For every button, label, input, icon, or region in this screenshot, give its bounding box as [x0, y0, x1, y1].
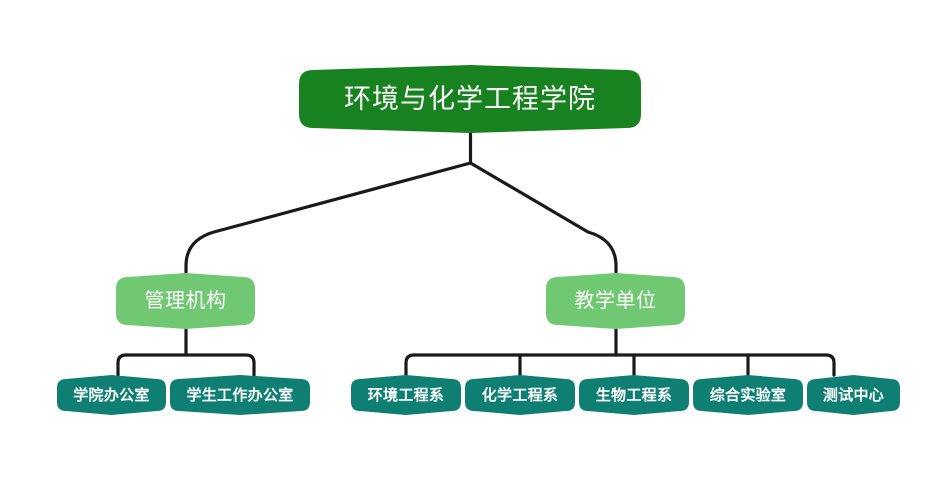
org-chart-canvas: 环境与化学工程学院 管理机构 教学单位 学院办公室 学生工作办公室 环境工程系: [0, 0, 941, 482]
connector-root-to-管理机构: [186, 163, 471, 272]
node-leaf-测试中心-label: 测试中心: [823, 388, 884, 403]
node-leaf-综合实验室-label: 综合实验室: [710, 388, 787, 403]
node-leaf-学生工作办公室[interactable]: 学生工作办公室: [170, 375, 310, 415]
node-root[interactable]: 环境与化学工程学院: [299, 64, 641, 134]
node-leaf-测试中心[interactable]: 测试中心: [807, 375, 900, 415]
node-root-label: 环境与化学工程学院: [344, 86, 596, 113]
node-branch-管理机构[interactable]: 管理机构: [116, 272, 255, 330]
node-branch-教学单位[interactable]: 教学单位: [546, 272, 685, 330]
node-leaf-环境工程系-label: 环境工程系: [368, 388, 445, 403]
node-leaf-化学工程系[interactable]: 化学工程系: [465, 375, 575, 415]
connector-root-to-教学单位: [471, 163, 617, 272]
node-leaf-学院办公室[interactable]: 学院办公室: [57, 375, 166, 415]
connector-管理机构-bus: [118, 355, 254, 375]
node-leaf-学生工作办公室-label: 学生工作办公室: [186, 388, 293, 403]
node-leaf-生物工程系-label: 生物工程系: [596, 388, 673, 403]
node-branch-教学单位-label: 教学单位: [575, 291, 657, 311]
node-branch-管理机构-label: 管理机构: [145, 291, 227, 311]
connector-教学单位-bus: [406, 355, 834, 375]
node-leaf-学院办公室-label: 学院办公室: [73, 388, 150, 403]
node-leaf-生物工程系[interactable]: 生物工程系: [579, 375, 689, 415]
node-leaf-化学工程系-label: 化学工程系: [482, 388, 559, 403]
node-leaf-环境工程系[interactable]: 环境工程系: [351, 375, 461, 415]
node-leaf-综合实验室[interactable]: 综合实验室: [693, 375, 803, 415]
